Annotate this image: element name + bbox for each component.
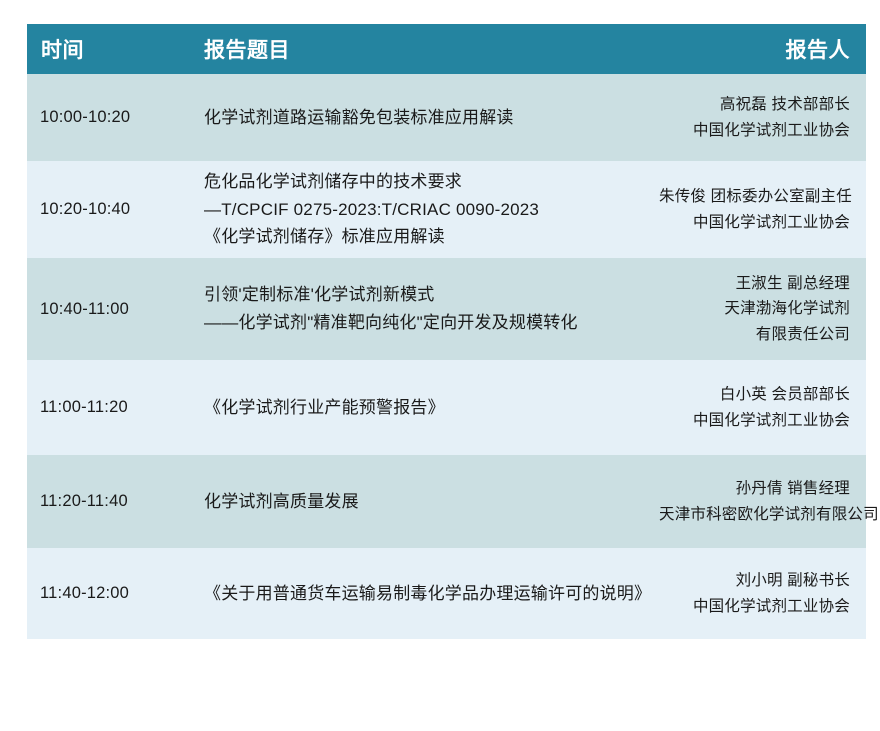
title-line: 《关于用普通货车运输易制毒化学品办理运输许可的说明》 [204,580,659,608]
cell-speaker: 刘小明 副秘书长 中国化学试剂工业协会 [659,548,866,639]
table-row: 11:20-11:40 化学试剂高质量发展 孙丹倩 销售经理 天津市科密欧化学试… [27,455,866,548]
cell-title: 《关于用普通货车运输易制毒化学品办理运输许可的说明》 [179,548,659,639]
speaker-line: 白小英 会员部部长 [659,382,850,407]
table-header-row: 时间 报告题目 报告人 [27,24,866,74]
page-root: 时间 报告题目 报告人 10:00-10:20 化学试剂道路运输豁免包装标准应用… [0,0,880,731]
speaker-line: 朱传俊 团标委办公室副主任 [659,184,850,209]
cell-speaker: 朱传俊 团标委办公室副主任 中国化学试剂工业协会 [659,161,866,258]
table-row: 10:40-11:00 引领'定制标准'化学试剂新模式 ——化学试剂"精准靶向纯… [27,258,866,360]
table-row: 10:00-10:20 化学试剂道路运输豁免包装标准应用解读 高祝磊 技术部部长… [27,74,866,161]
cell-speaker: 高祝磊 技术部部长 中国化学试剂工业协会 [659,74,866,161]
title-line: 化学试剂高质量发展 [204,488,659,516]
speaker-line: 中国化学试剂工业协会 [659,408,850,433]
cell-title: 引领'定制标准'化学试剂新模式 ——化学试剂"精准靶向纯化"定向开发及规模转化 [179,258,659,360]
speaker-line: 天津市科密欧化学试剂有限公司 [659,502,850,527]
cell-time: 10:20-10:40 [27,161,179,258]
title-line: ——化学试剂"精准靶向纯化"定向开发及规模转化 [204,309,659,337]
cell-speaker: 白小英 会员部部长 中国化学试剂工业协会 [659,360,866,455]
table-header: 时间 报告题目 报告人 [27,24,866,74]
cell-time: 10:00-10:20 [27,74,179,161]
speaker-line: 天津渤海化学试剂 [659,296,850,321]
cell-title: 《化学试剂行业产能预警报告》 [179,360,659,455]
title-line: 危化品化学试剂储存中的技术要求 [204,168,659,196]
speaker-line: 王淑生 副总经理 [659,271,850,296]
cell-title: 化学试剂道路运输豁免包装标准应用解读 [179,74,659,161]
table-row: 11:40-12:00 《关于用普通货车运输易制毒化学品办理运输许可的说明》 刘… [27,548,866,639]
title-line: 引领'定制标准'化学试剂新模式 [204,281,659,309]
column-header-time: 时间 [27,24,179,74]
cell-time: 11:20-11:40 [27,455,179,548]
cell-time: 11:00-11:20 [27,360,179,455]
speaker-line: 孙丹倩 销售经理 [659,476,850,501]
speaker-line: 有限责任公司 [659,322,850,347]
speaker-line: 高祝磊 技术部部长 [659,92,850,117]
title-line: 化学试剂道路运输豁免包装标准应用解读 [204,104,659,132]
conference-schedule-table: 时间 报告题目 报告人 10:00-10:20 化学试剂道路运输豁免包装标准应用… [27,24,866,639]
title-line: 《化学试剂行业产能预警报告》 [204,394,659,422]
speaker-line: 刘小明 副秘书长 [659,568,850,593]
column-header-speaker: 报告人 [659,24,866,74]
cell-title: 化学试剂高质量发展 [179,455,659,548]
table-body: 10:00-10:20 化学试剂道路运输豁免包装标准应用解读 高祝磊 技术部部长… [27,74,866,639]
cell-time: 10:40-11:00 [27,258,179,360]
speaker-line: 中国化学试剂工业协会 [659,594,850,619]
column-header-title: 报告题目 [179,24,659,74]
cell-speaker: 王淑生 副总经理 天津渤海化学试剂 有限责任公司 [659,258,866,360]
speaker-line: 中国化学试剂工业协会 [659,210,850,235]
speaker-line: 中国化学试剂工业协会 [659,118,850,143]
cell-title: 危化品化学试剂储存中的技术要求 —T/CPCIF 0275-2023:T/CRI… [179,161,659,258]
title-line: —T/CPCIF 0275-2023:T/CRIAC 0090-2023 [204,196,659,224]
cell-speaker: 孙丹倩 销售经理 天津市科密欧化学试剂有限公司 [659,455,866,548]
table-row: 11:00-11:20 《化学试剂行业产能预警报告》 白小英 会员部部长 中国化… [27,360,866,455]
title-line: 《化学试剂储存》标准应用解读 [204,223,659,251]
cell-time: 11:40-12:00 [27,548,179,639]
table-row: 10:20-10:40 危化品化学试剂储存中的技术要求 —T/CPCIF 027… [27,161,866,258]
